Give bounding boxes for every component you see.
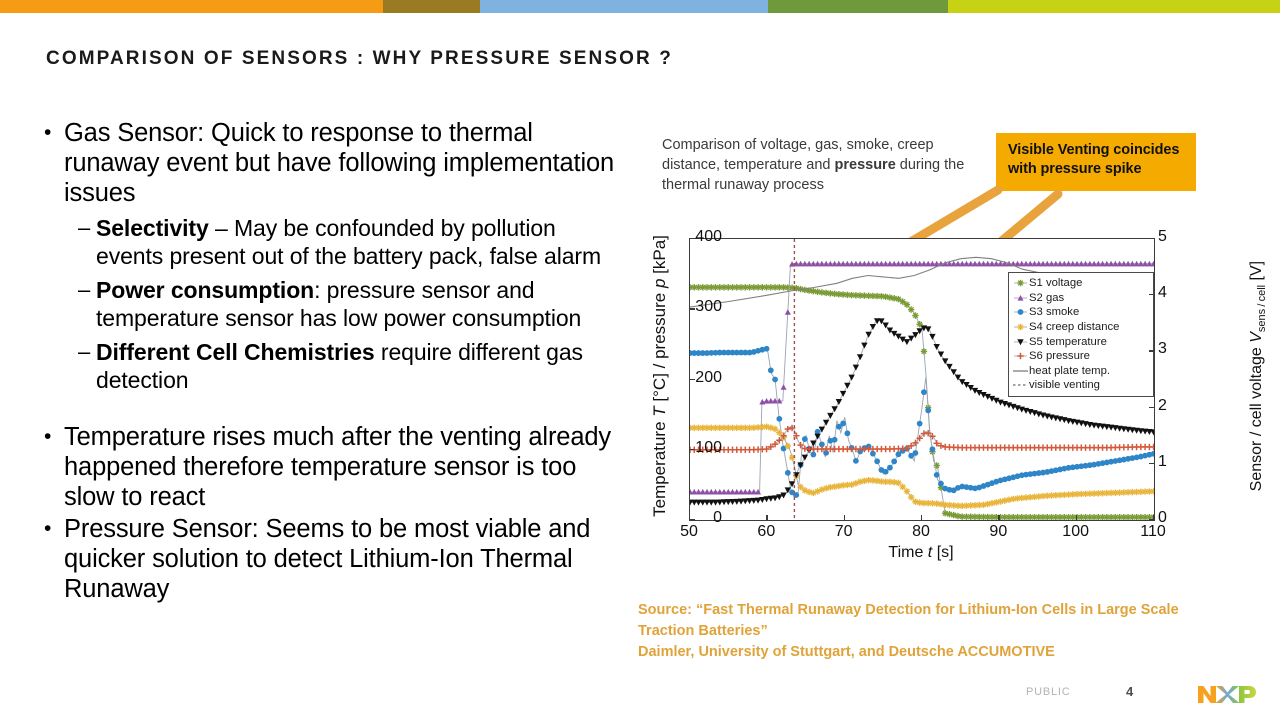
bullet-text: Gas Sensor: Quick to response to thermal… xyxy=(64,118,624,208)
top-band-orange xyxy=(0,0,383,13)
top-band-green xyxy=(768,0,948,13)
x-tick: 70 xyxy=(822,523,866,541)
legend-item: S1 voltage xyxy=(1012,276,1150,291)
y-tick-mark-left xyxy=(689,308,695,309)
legend-marker-icon xyxy=(1012,291,1029,305)
x-tick: 60 xyxy=(744,523,788,541)
x-axis-label: Time t [s] xyxy=(638,544,1204,562)
legend-label: S2 gas xyxy=(1029,291,1064,305)
bullet-marker: • xyxy=(44,422,64,512)
y-axis-label-left: Temperature T [°C] / pressure p [kPa] xyxy=(650,226,670,526)
y-tick-right: 3 xyxy=(1158,340,1167,358)
slide: COMPARISON OF SENSORS : WHY PRESSURE SEN… xyxy=(0,0,1280,720)
x-tick-mark xyxy=(1076,515,1077,521)
y-tick-mark-right xyxy=(1149,463,1155,464)
legend-label: S1 voltage xyxy=(1029,276,1082,290)
y-tick-mark-left xyxy=(689,449,695,450)
x-tick-mark xyxy=(689,515,690,521)
x-tick-mark xyxy=(766,515,767,521)
sub-bullet-marker: – xyxy=(78,338,96,394)
emphasis-text: pressure xyxy=(835,157,896,173)
source-line: Traction Batteries” xyxy=(638,621,1258,642)
page-title: COMPARISON OF SENSORS : WHY PRESSURE SEN… xyxy=(46,48,673,70)
chart: Temperature T [°C] / pressure p [kPa] Se… xyxy=(638,226,1238,566)
page-number: 4 xyxy=(1126,684,1133,699)
y-tick-mark-right xyxy=(1149,350,1155,351)
plot-area: S1 voltageS2 gasS3 smokeS4 creep distanc… xyxy=(689,238,1155,521)
legend-marker-icon xyxy=(1012,364,1029,378)
top-band-dark-olive xyxy=(383,0,480,13)
bullet-item: •Pressure Sensor: Seems to be most viabl… xyxy=(44,514,624,604)
legend-label: S4 creep distance xyxy=(1029,320,1119,334)
x-tick: 100 xyxy=(1054,523,1098,541)
y-tick-left: 200 xyxy=(682,369,722,387)
legend-item: S5 temperature xyxy=(1012,334,1150,349)
bullet-list: •Gas Sensor: Quick to response to therma… xyxy=(44,118,624,606)
legend-item: visible venting xyxy=(1012,378,1150,393)
spacer xyxy=(44,400,624,422)
sub-bullet-text: Power consumption: pressure sensor and t… xyxy=(96,276,624,332)
y-tick-mark-right xyxy=(1149,238,1155,239)
bullet-item: •Gas Sensor: Quick to response to therma… xyxy=(44,118,624,208)
legend-marker-icon xyxy=(1012,305,1029,319)
legend-item: S2 gas xyxy=(1012,291,1150,306)
source-line: Daimler, University of Stuttgart, and De… xyxy=(638,642,1258,663)
legend-item: S6 pressure xyxy=(1012,349,1150,364)
legend-marker-icon xyxy=(1012,349,1029,363)
legend-label: visible venting xyxy=(1029,378,1100,392)
classification-label: PUBLIC xyxy=(1026,686,1071,698)
sub-bullet-item: –Power consumption: pressure sensor and … xyxy=(78,276,624,332)
legend-marker-icon xyxy=(1012,378,1029,392)
legend-marker-icon xyxy=(1012,320,1029,334)
top-band-light-blue xyxy=(480,0,768,13)
emphasis-text: Power consumption xyxy=(96,277,314,303)
legend-marker-icon xyxy=(1012,335,1029,349)
y-tick-right: 1 xyxy=(1158,453,1167,471)
y-tick-left: 400 xyxy=(682,228,722,246)
x-tick: 90 xyxy=(976,523,1020,541)
sub-bullet-text: Selectivity – May be confounded by pollu… xyxy=(96,214,624,270)
y-tick-left: 300 xyxy=(682,298,722,316)
x-tick-mark xyxy=(844,515,845,521)
emphasis-text: Different Cell Chemistries xyxy=(96,339,375,365)
legend-label: heat plate temp. xyxy=(1029,364,1110,378)
legend-label: S6 pressure xyxy=(1029,349,1090,363)
y-tick-right: 2 xyxy=(1158,397,1167,415)
y-axis-label-right: Sensor / cell voltage Vsens / cell [V] xyxy=(1248,226,1268,526)
y-tick-right: 4 xyxy=(1158,284,1167,302)
y-tick-mark-left xyxy=(689,379,695,380)
legend-item: S3 smoke xyxy=(1012,305,1150,320)
bullet-marker: • xyxy=(44,118,64,208)
x-tick: 80 xyxy=(899,523,943,541)
sub-bullet-marker: – xyxy=(78,276,96,332)
x-tick: 50 xyxy=(667,523,711,541)
sub-bullet-item: –Selectivity – May be confounded by poll… xyxy=(78,214,624,270)
y-tick-right: 5 xyxy=(1158,228,1167,246)
x-tick-mark xyxy=(921,515,922,521)
legend-label: S5 temperature xyxy=(1029,335,1107,349)
bullet-item: •Temperature rises much after the ventin… xyxy=(44,422,624,512)
nxp-logo xyxy=(1196,682,1256,706)
source-line: Source: “Fast Thermal Runaway Detection … xyxy=(638,600,1258,621)
top-color-band xyxy=(0,0,1280,13)
bullet-marker: • xyxy=(44,514,64,604)
x-tick: 110 xyxy=(1131,523,1175,541)
figure-caption: Comparison of voltage, gas, smoke, creep… xyxy=(662,135,992,195)
legend-label: S3 smoke xyxy=(1029,305,1079,319)
bullet-text: Temperature rises much after the venting… xyxy=(64,422,624,512)
y-tick-left: 100 xyxy=(682,439,722,457)
sub-bullet-text: Different Cell Chemistries require diffe… xyxy=(96,338,624,394)
y-tick-mark-left xyxy=(689,238,695,239)
x-tick-mark xyxy=(998,515,999,521)
legend-marker-icon xyxy=(1012,276,1029,290)
sub-bullet-marker: – xyxy=(78,214,96,270)
y-tick-mark-right xyxy=(1149,407,1155,408)
sub-bullet-item: –Different Cell Chemistries require diff… xyxy=(78,338,624,394)
legend-item: heat plate temp. xyxy=(1012,364,1150,379)
chart-legend: S1 voltageS2 gasS3 smokeS4 creep distanc… xyxy=(1008,272,1154,397)
y-tick-mark-right xyxy=(1149,294,1155,295)
callout-box: Visible Venting coincides with pressure … xyxy=(996,133,1196,191)
bullet-text: Pressure Sensor: Seems to be most viable… xyxy=(64,514,624,604)
x-tick-mark xyxy=(1153,515,1154,521)
emphasis-text: Selectivity xyxy=(96,215,209,241)
figure-panel: Comparison of voltage, gas, smoke, creep… xyxy=(630,128,1258,598)
top-band-yellow-green xyxy=(948,0,1280,13)
legend-item: S4 creep distance xyxy=(1012,320,1150,335)
source-citation: Source: “Fast Thermal Runaway Detection … xyxy=(638,600,1258,663)
